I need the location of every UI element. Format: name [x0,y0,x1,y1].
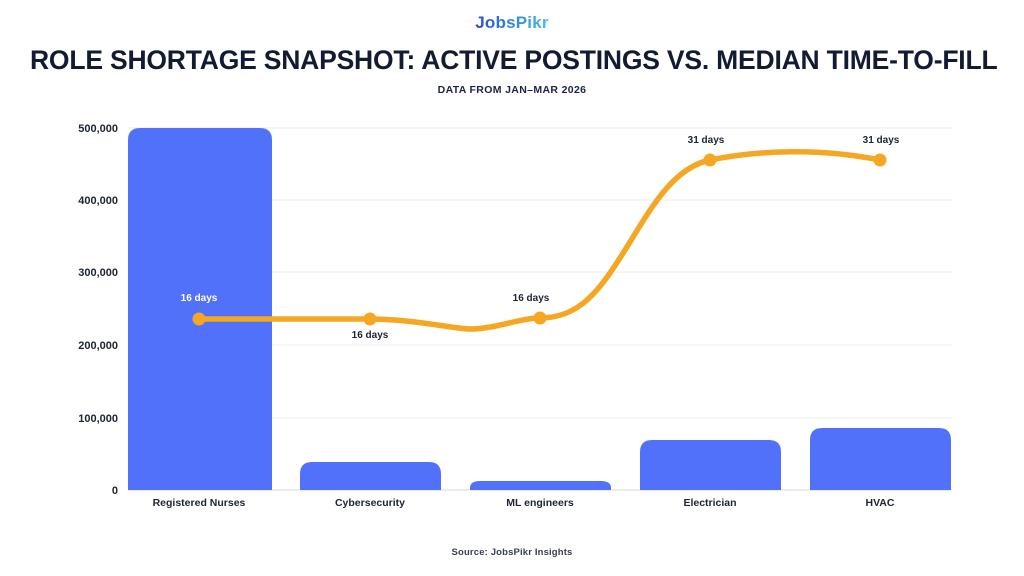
x-tick-label-ml-engineers: ML engineers [506,497,574,509]
bar-series [128,128,951,490]
chart-plot-area: 500,000 400,000 300,000 200,000 100,000 … [0,110,1024,510]
jobspikr-logo: JobsPikr [475,13,548,33]
y-axis-labels: 500,000 400,000 300,000 200,000 100,000 … [78,123,118,497]
bar-hvac[interactable] [810,428,951,490]
y-tick-label-400000: 400,000 [78,195,118,207]
point-label-hvac: 31 days [863,135,900,146]
point-label-registered-nurses: 16 days [181,293,218,304]
y-tick-label-200000: 200,000 [78,340,118,352]
bar-electrician[interactable] [640,440,781,490]
y-tick-label-100000: 100,000 [78,413,118,425]
title-block: ROLE SHORTAGE SNAPSHOT: ACTIVE POSTINGS … [0,46,1024,96]
point-label-cybersecurity: 16 days [352,330,389,341]
line-point-cybersecurity[interactable] [364,313,377,326]
y-tick-label-500000: 500,000 [78,123,118,135]
x-tick-label-cybersecurity: Cybersecurity [335,497,405,509]
line-point-registered-nurses[interactable] [193,313,206,326]
bar-ml-engineers[interactable] [470,481,611,490]
x-tick-label-registered-nurses: Registered Nurses [153,497,246,509]
line-point-electrician[interactable] [704,154,717,167]
bar-cybersecurity[interactable] [300,462,441,490]
chart-svg: 500,000 400,000 300,000 200,000 100,000 … [0,110,1024,510]
brand-bar: JobsPikr [0,0,1024,46]
point-label-ml-engineers: 16 days [513,293,550,304]
x-axis-labels: Registered Nurses Cybersecurity ML engin… [153,497,895,509]
source-note: Source: JobsPikr Insights [0,547,1024,558]
y-tick-label-0: 0 [112,485,118,497]
x-tick-label-electrician: Electrician [683,497,736,509]
x-tick-label-hvac: HVAC [866,497,895,509]
line-point-ml-engineers[interactable] [534,312,547,325]
bar-registered-nurses[interactable] [128,128,272,490]
line-point-hvac[interactable] [874,154,887,167]
y-tick-label-300000: 300,000 [78,267,118,279]
chart-subtitle: DATA FROM JAN–MAR 2026 [30,84,994,96]
point-label-electrician: 31 days [688,135,725,146]
line-point-labels: 16 days 16 days 16 days 31 days 31 days [181,135,900,341]
chart-title: ROLE SHORTAGE SNAPSHOT: ACTIVE POSTINGS … [30,46,994,75]
